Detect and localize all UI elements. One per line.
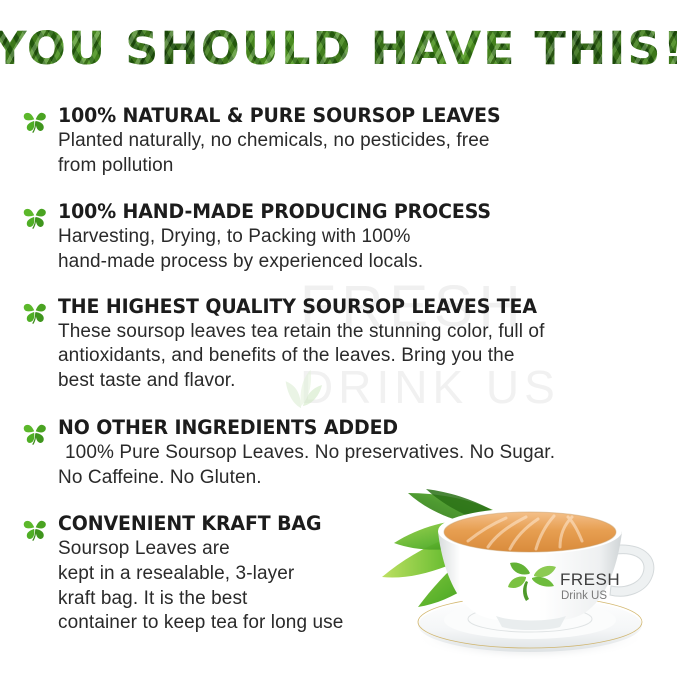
list-item-heading: 100% HAND-MADE PRODUCING PROCESS [58, 200, 644, 223]
clover-icon [22, 204, 48, 230]
body-line: Harvesting, Drying, to Packing with 100% [58, 225, 662, 250]
body-line: from pollution [58, 154, 662, 179]
list-item: 100% HAND-MADE PRODUCING PROCESS Harvest… [22, 200, 662, 274]
body-line: No Caffeine. No Gluten. [58, 466, 662, 491]
list-item-body: Soursop Leaves are kept in a resealable,… [58, 537, 662, 636]
clover-icon [22, 516, 48, 542]
body-line: kraft bag. It is the best [58, 587, 662, 612]
clover-icon [22, 108, 48, 134]
list-item: CONVENIENT KRAFT BAG Soursop Leaves are … [22, 512, 662, 636]
body-line: Planted naturally, no chemicals, no pest… [58, 129, 662, 154]
page-title-text: YOU SHOULD HAVE THIS! [0, 26, 679, 71]
list-item: 100% NATURAL & PURE SOURSOP LEAVES Plant… [22, 104, 662, 178]
list-item-heading: CONVENIENT KRAFT BAG [58, 512, 644, 535]
clover-icon [22, 420, 48, 446]
feature-list: 100% NATURAL & PURE SOURSOP LEAVES Plant… [22, 104, 662, 636]
body-line: kept in a resealable, 3-layer [58, 562, 662, 587]
body-line: hand-made process by experienced locals. [58, 250, 662, 275]
product-feature-graphic: FRESH DRINK US YOU SHOULD HAVE THIS! 100… [0, 0, 679, 679]
list-item-heading: 100% NATURAL & PURE SOURSOP LEAVES [58, 104, 644, 127]
list-item: THE HIGHEST QUALITY SOURSOP LEAVES TEA T… [22, 295, 662, 394]
list-item-body: These soursop leaves tea retain the stun… [58, 320, 662, 394]
clover-icon [22, 299, 48, 325]
list-item-heading: THE HIGHEST QUALITY SOURSOP LEAVES TEA [58, 295, 644, 318]
page-title: YOU SHOULD HAVE THIS! [0, 26, 679, 71]
body-line: These soursop leaves tea retain the stun… [58, 320, 662, 345]
body-line: 100% Pure Soursop Leaves. No preservativ… [58, 441, 662, 466]
list-item: NO OTHER INGREDIENTS ADDED 100% Pure Sou… [22, 416, 662, 490]
list-item-heading: NO OTHER INGREDIENTS ADDED [58, 416, 644, 439]
list-item-body: Planted naturally, no chemicals, no pest… [58, 129, 662, 178]
list-item-body: 100% Pure Soursop Leaves. No preservativ… [58, 441, 662, 490]
body-line: best taste and flavor. [58, 369, 662, 394]
body-line: Soursop Leaves are [58, 537, 662, 562]
list-item-body: Harvesting, Drying, to Packing with 100%… [58, 225, 662, 274]
body-line: container to keep tea for long use [58, 611, 662, 636]
body-line: antioxidants, and benefits of the leaves… [58, 344, 662, 369]
